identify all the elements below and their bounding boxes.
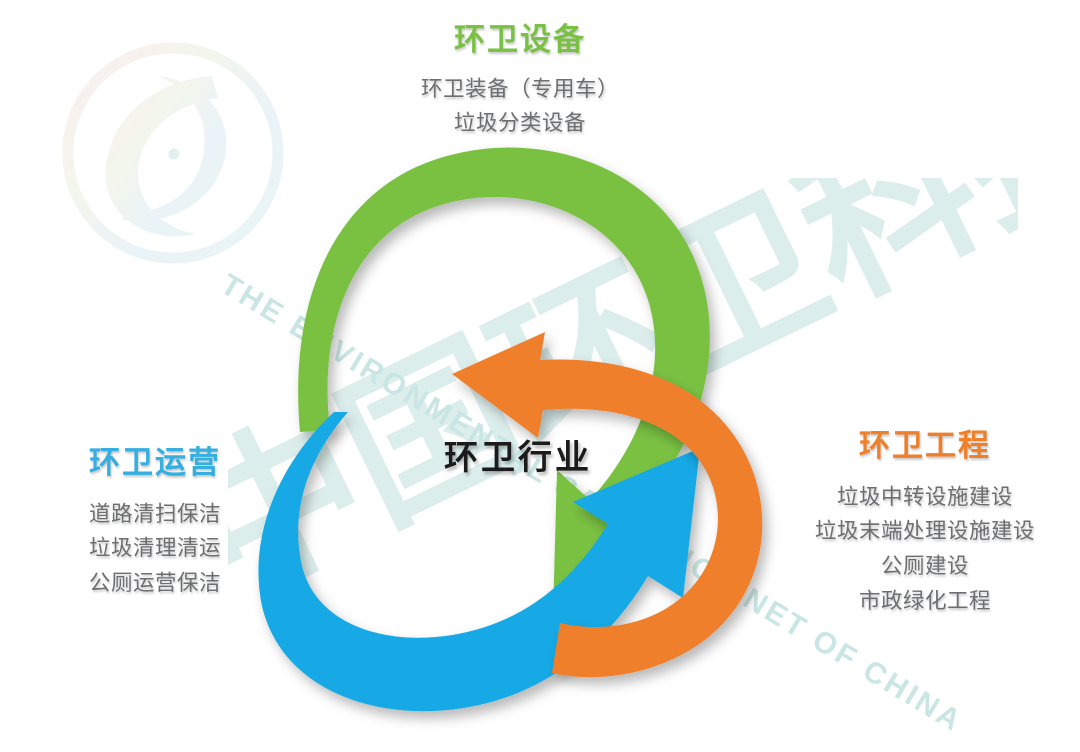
branch-engineering-item-1: 垃圾末端处理设施建设 xyxy=(780,514,1070,549)
branch-equipment-item-0: 环卫装备（专用车） xyxy=(330,72,710,107)
branch-equipment: 环卫设备 环卫装备（专用车） 垃圾分类设备 xyxy=(330,22,710,141)
branch-operation: 环卫运营 道路清扫保洁 垃圾清理清运 公厕运营保洁 xyxy=(30,445,280,601)
branch-engineering-title: 环卫工程 xyxy=(780,428,1070,464)
branch-engineering: 环卫工程 垃圾中转设施建设 垃圾末端处理设施建设 公厕建设 市政绿化工程 xyxy=(780,428,1070,619)
branch-engineering-item-3: 市政绿化工程 xyxy=(780,584,1070,619)
branch-operation-title: 环卫运营 xyxy=(30,445,280,481)
branch-equipment-title: 环卫设备 xyxy=(330,22,710,58)
branch-engineering-item-2: 公厕建设 xyxy=(780,549,1070,584)
branch-engineering-item-0: 垃圾中转设施建设 xyxy=(780,480,1070,515)
branch-operation-item-2: 公厕运营保洁 xyxy=(30,566,280,601)
branch-equipment-item-1: 垃圾分类设备 xyxy=(330,106,710,141)
center-label: 环卫行业 xyxy=(418,430,618,479)
diagram-canvas: 中 国 环 卫 科 技 网 THE ENVIRONMENTAL SANITATI… xyxy=(0,0,1080,752)
branch-operation-item-0: 道路清扫保洁 xyxy=(30,497,280,532)
branch-operation-item-1: 垃圾清理清运 xyxy=(30,531,280,566)
